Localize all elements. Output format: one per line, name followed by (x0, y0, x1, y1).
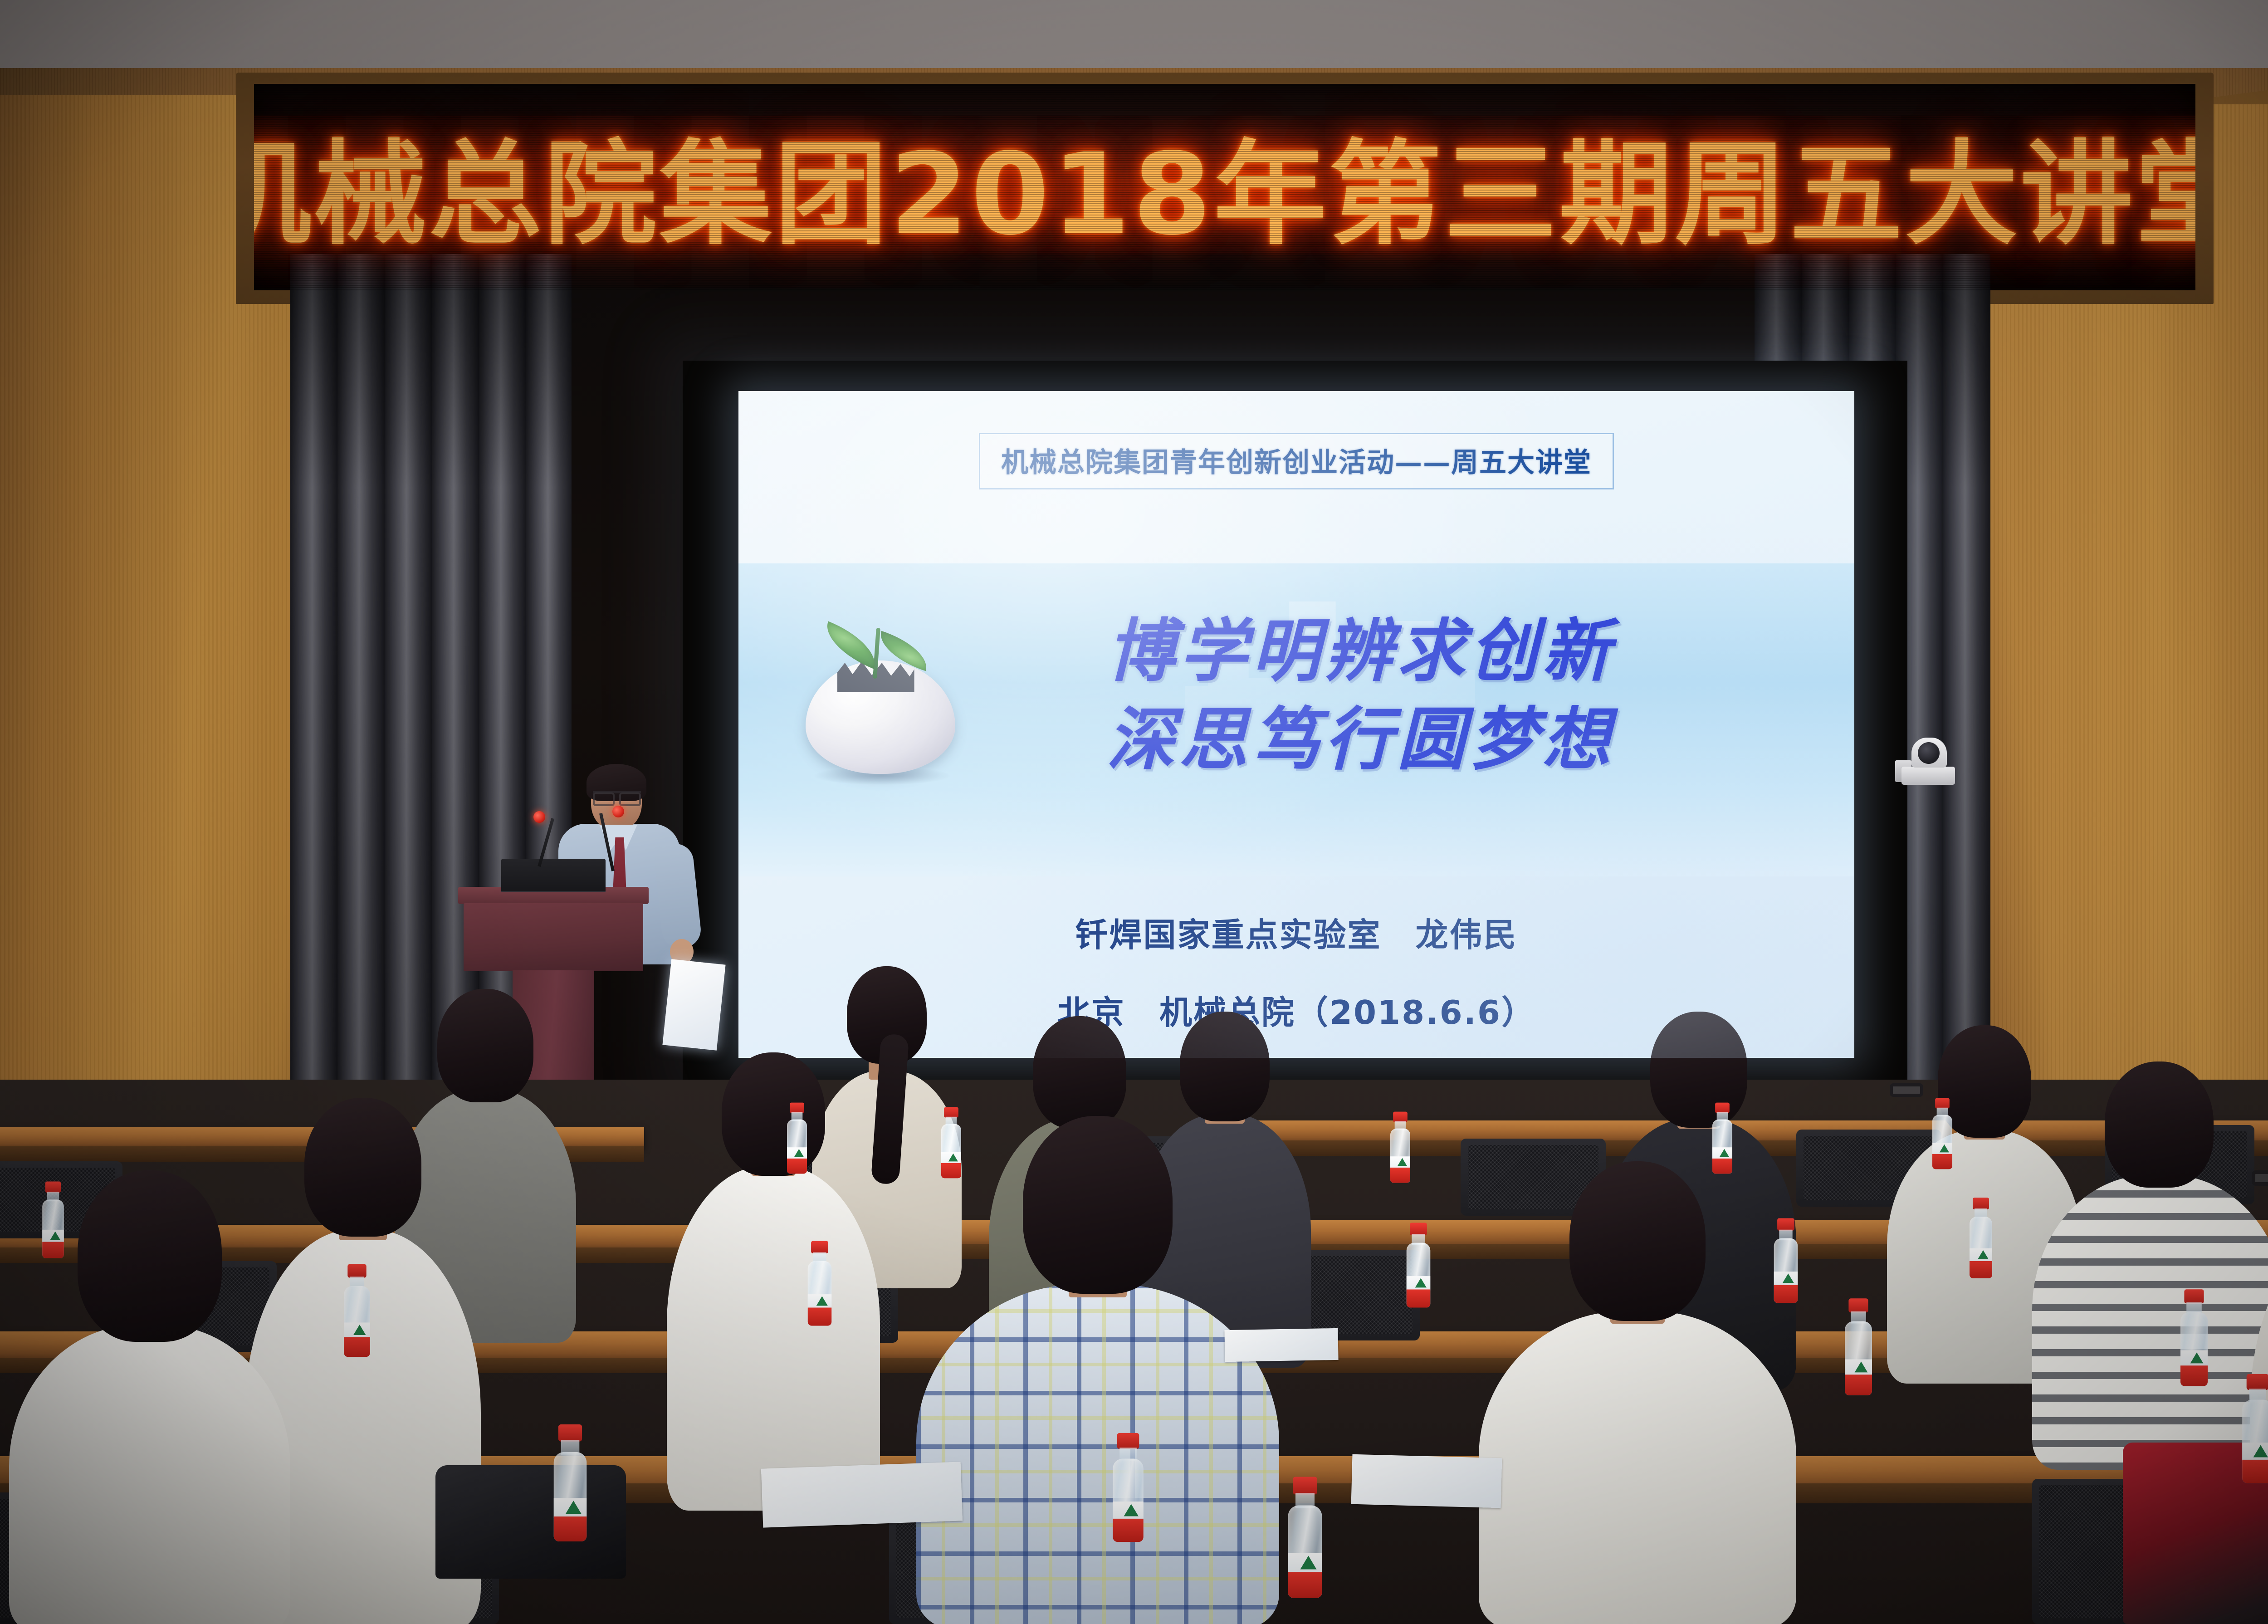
egg-sprout-illustration (806, 632, 955, 782)
microphone-left-indicator-icon (533, 811, 545, 823)
led-banner-text: 机械总院集团2018年第三期周五大讲堂 (254, 103, 2195, 266)
attendee-head (1569, 1161, 1706, 1321)
attendee-plaid-shirt-front (916, 1116, 1279, 1624)
water-bottle (41, 1181, 64, 1258)
paper-on-desk (1351, 1454, 1502, 1508)
slide-slogan-line2: 深思笃行圆梦想 (1107, 696, 1615, 784)
sprout-leaf-left (818, 621, 884, 669)
water-bottle (786, 1103, 808, 1174)
attendee-torso (2032, 1175, 2268, 1470)
attendee-head (437, 989, 533, 1102)
speaker-handout-paper (662, 959, 725, 1051)
slide-artwork-band: 博学明辨求创新 深思笃行圆梦想 (738, 563, 1854, 876)
water-bottle (1389, 1112, 1411, 1183)
water-bottle (1931, 1098, 1953, 1169)
water-bottle (1406, 1223, 1432, 1308)
attendee-white-polo-right-center (1479, 1161, 1796, 1624)
speaker-glasses-icon (593, 791, 641, 801)
podium-laptop[interactable] (501, 859, 606, 891)
attendee-glasses-icon (2252, 1170, 2268, 1186)
water-bottle (1287, 1477, 1324, 1598)
ptz-camera-base (1901, 767, 1955, 785)
attendee-white-tee-mid-left (667, 1052, 880, 1506)
slide-slogan-line1: 博学明辨求创新 (1107, 607, 1615, 696)
attendee-head (1180, 1012, 1270, 1121)
ptz-camera-icon (1901, 735, 1956, 785)
slide-header-box: 机械总院集团青年创新创业活动——周五大讲堂 (979, 433, 1614, 489)
attendee-head (2105, 1061, 2214, 1188)
attendee-glasses-icon (1890, 1083, 1923, 1097)
attendee-torso (9, 1325, 290, 1624)
paper-on-desk (761, 1462, 963, 1527)
water-bottle (1844, 1298, 1873, 1395)
paper-on-desk (1224, 1328, 1338, 1362)
water-bottle (1112, 1433, 1145, 1542)
water-bottle (807, 1241, 833, 1326)
water-bottle (2180, 1289, 2209, 1386)
water-bottle (552, 1424, 588, 1541)
projection-screen: 机械总院集团青年创新创业活动——周五大讲堂 博学明辨求创新 深思笃行圆梦想 钎焊… (738, 391, 1854, 1058)
attendee-torso (667, 1166, 880, 1511)
attendee-head (78, 1170, 222, 1342)
ptz-camera-lens (1918, 742, 1940, 764)
attendee-head (722, 1052, 825, 1176)
slide-footer-line1: 钎焊国家重点实验室 龙伟民 (738, 908, 1854, 956)
water-bottle (1969, 1198, 1993, 1278)
slide-header-text: 机械总院集团青年创新创业活动——周五大讲堂 (1001, 440, 1592, 480)
water-bottle (1711, 1103, 1733, 1174)
led-banner-panel: 机械总院集团2018年第三期周五大讲堂 (254, 84, 2195, 290)
attendee-head (1033, 1016, 1126, 1129)
black-bag (435, 1465, 626, 1579)
slide-slogan: 博学明辨求创新 深思笃行圆梦想 (1107, 607, 1615, 784)
attendee-torso (1479, 1311, 1796, 1624)
auditorium-photo: 机械总院集团2018年第三期周五大讲堂 机械总院集团青年创新创业活动——周五大讲… (0, 0, 2268, 1624)
water-bottle (343, 1264, 371, 1357)
attendee-head (304, 1098, 421, 1237)
water-bottle (940, 1107, 962, 1179)
water-bottle (2241, 1374, 2268, 1483)
attendee-striped-polo-right (2032, 1061, 2268, 1470)
attendee-head (1023, 1116, 1173, 1294)
microphone-right-indicator-icon (612, 806, 624, 817)
podium-front-panel (464, 903, 643, 971)
water-bottle (1773, 1218, 1799, 1303)
